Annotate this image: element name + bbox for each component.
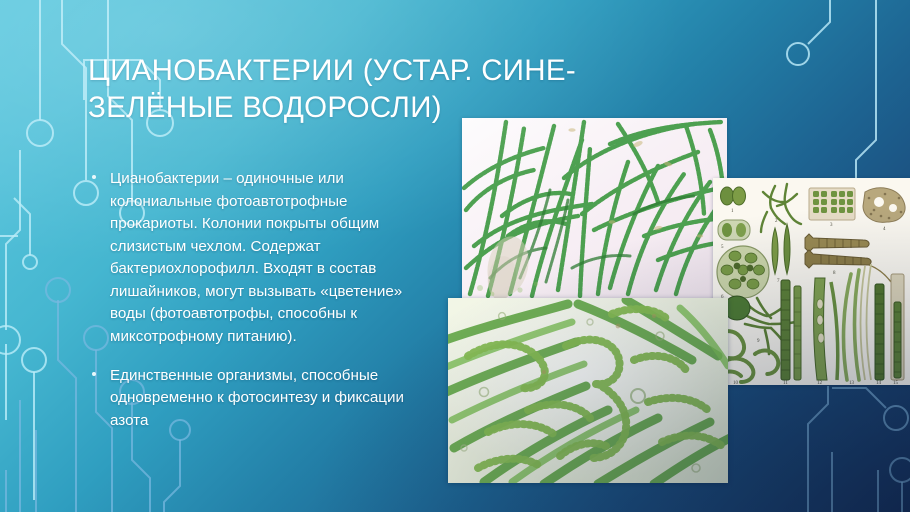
- bullet-item-2: Единственные организмы, способные одновр…: [88, 365, 420, 433]
- bullet-text: Цианобактерии – одиночные или колониальн…: [110, 170, 402, 345]
- micrograph-filaments-svg: [462, 118, 727, 298]
- svg-text:11: 11: [783, 381, 788, 385]
- svg-text:12: 12: [817, 381, 823, 385]
- beaded-cyanobacteria-micrograph: [448, 298, 728, 483]
- cyanobacteria-species-plate: 1 2: [713, 178, 910, 385]
- species-plate-svg: 1 2: [713, 178, 910, 385]
- svg-text:15: 15: [893, 381, 899, 385]
- micrograph-beaded-svg: [448, 298, 728, 483]
- svg-text:10: 10: [733, 381, 739, 385]
- slide-title: ЦИАНОБАКТЕРИИ (УСТАР. СИНЕ-ЗЕЛЁНЫЕ ВОДОР…: [88, 52, 708, 126]
- bullet-item-1: Цианобактерии – одиночные или колониальн…: [88, 168, 420, 349]
- svg-text:13: 13: [849, 381, 855, 385]
- presentation-slide: ЦИАНОБАКТЕРИИ (УСТАР. СИНЕ-ЗЕЛЁНЫЕ ВОДОР…: [0, 0, 910, 512]
- bullet-marker-icon: [92, 372, 96, 376]
- slide-body-content: Цианобактерии – одиночные или колониальн…: [88, 168, 420, 448]
- bullet-marker-icon: [92, 175, 96, 179]
- filamentous-cyanobacteria-micrograph: [462, 118, 727, 298]
- svg-text:14: 14: [876, 381, 882, 385]
- bullet-text: Единственные организмы, способные одновр…: [110, 367, 404, 429]
